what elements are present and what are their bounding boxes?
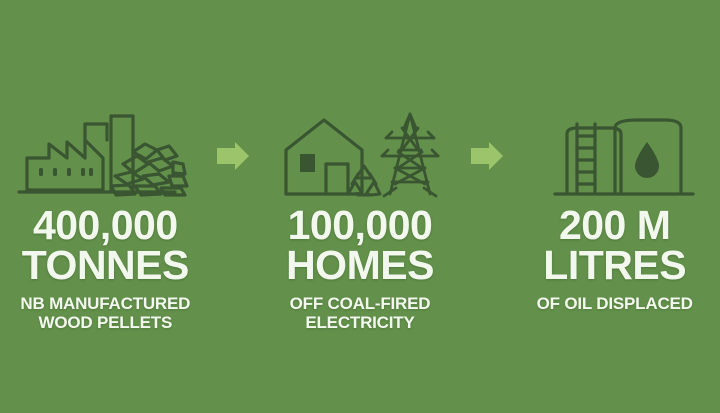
icon-cell-homes (255, 103, 466, 208)
arrow-cell-2 (465, 103, 509, 208)
infographic-canvas: 400,000 TONNES NB MANUFACTURED WOOD PELL… (0, 0, 720, 413)
arrow-cell-1 (211, 103, 255, 208)
stat-number-pellets: 400,000 (0, 206, 211, 245)
flow-arrow-2-icon (469, 140, 505, 172)
house-power-pylon-icon (270, 106, 450, 206)
stat-column-oil: 200 M LITRES OF OIL DISPLACED (509, 206, 720, 313)
flow-arrow-1-icon (215, 140, 251, 172)
stat-unit-homes: HOMES (255, 246, 466, 285)
stat-caption-pellets-line1: NB MANUFACTURED (0, 294, 211, 313)
stat-caption-pellets-line2: WOOD PELLETS (0, 313, 211, 332)
stat-number-oil: 200 M (509, 206, 720, 245)
stat-unit-pellets: TONNES (0, 246, 211, 285)
stat-number-homes: 100,000 (255, 206, 466, 245)
icon-flow-row (0, 103, 720, 208)
icon-cell-pellets (0, 103, 211, 208)
stat-column-homes: 100,000 HOMES OFF COAL-FIRED ELECTRICITY (255, 206, 466, 332)
stat-caption-homes-line1: OFF COAL-FIRED (255, 294, 466, 313)
icon-cell-oil (509, 103, 720, 208)
oil-storage-tanks-icon (525, 106, 705, 206)
stat-caption-homes-line2: ELECTRICITY (255, 313, 466, 332)
stat-column-pellets: 400,000 TONNES NB MANUFACTURED WOOD PELL… (0, 206, 211, 332)
stat-unit-oil: LITRES (509, 246, 720, 285)
stats-text-row: 400,000 TONNES NB MANUFACTURED WOOD PELL… (0, 206, 720, 332)
stat-caption-oil-line1: OF OIL DISPLACED (509, 294, 720, 313)
factory-wood-pellets-icon (15, 106, 195, 206)
